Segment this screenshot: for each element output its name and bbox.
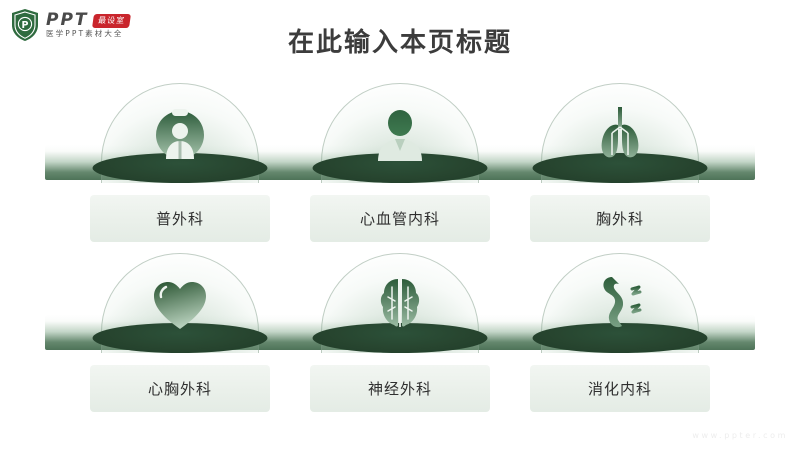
stomach-icon bbox=[582, 269, 658, 335]
department-label: 普外科 bbox=[156, 208, 204, 229]
department-row-1: 普外科 心血管内科 bbox=[0, 75, 800, 255]
department-label: 心胸外科 bbox=[148, 378, 212, 399]
department-item[interactable]: 神经外科 bbox=[295, 245, 505, 425]
site-watermark: www.ppter.com bbox=[692, 431, 788, 440]
department-label-box[interactable]: 胸外科 bbox=[530, 195, 710, 242]
department-label-box[interactable]: 普外科 bbox=[90, 195, 270, 242]
department-item[interactable]: 心胸外科 bbox=[75, 245, 285, 425]
department-row-2: 心胸外科 神经外科 bbox=[0, 245, 800, 425]
department-label: 心血管内科 bbox=[360, 208, 440, 229]
brain-icon bbox=[362, 269, 438, 335]
heart-icon bbox=[142, 269, 218, 335]
department-label-box[interactable]: 心胸外科 bbox=[90, 365, 270, 412]
slide-canvas: P PPT 最设室 医学PPT素材大全 在此输入本页标题 bbox=[0, 0, 800, 450]
lungs-icon bbox=[582, 99, 658, 165]
department-label-box[interactable]: 消化内科 bbox=[530, 365, 710, 412]
department-label: 消化内科 bbox=[588, 378, 652, 399]
department-item[interactable]: 普外科 bbox=[75, 75, 285, 255]
department-item[interactable]: 胸外科 bbox=[515, 75, 725, 255]
department-label-box[interactable]: 神经外科 bbox=[310, 365, 490, 412]
department-item[interactable]: 消化内科 bbox=[515, 245, 725, 425]
department-item[interactable]: 心血管内科 bbox=[295, 75, 505, 255]
page-title: 在此输入本页标题 bbox=[0, 22, 800, 59]
ct-scanner-icon bbox=[142, 99, 218, 165]
department-label: 胸外科 bbox=[596, 208, 644, 229]
department-label: 神经外科 bbox=[368, 378, 432, 399]
doctor-person-icon bbox=[362, 99, 438, 165]
department-label-box[interactable]: 心血管内科 bbox=[310, 195, 490, 242]
